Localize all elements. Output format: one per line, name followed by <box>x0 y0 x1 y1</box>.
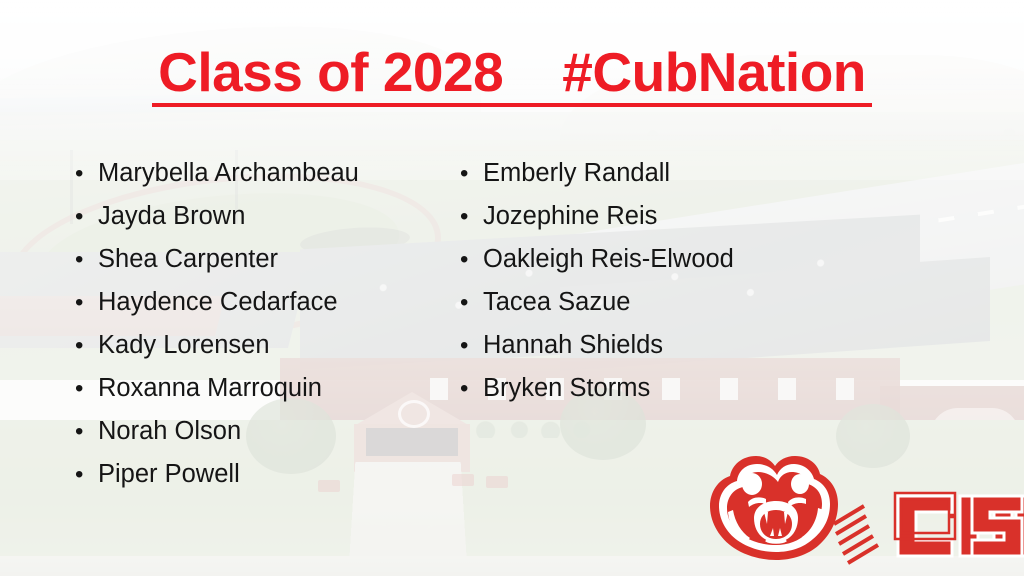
list-item: Kady Lorensen <box>68 324 453 367</box>
speed-lines-icon <box>834 506 878 563</box>
list-item: Marybella Archambeau <box>68 152 453 195</box>
list-item: Oakleigh Reis-Elwood <box>453 238 873 281</box>
title-area: Class of 2028 #CubNation <box>0 44 1024 107</box>
list-item: Bryken Storms <box>453 367 873 410</box>
presentation-slide: Class of 2028 #CubNation Marybella Archa… <box>0 0 1024 576</box>
cubs-wordmark <box>895 493 1024 556</box>
slide-content: Class of 2028 #CubNation Marybella Archa… <box>0 0 1024 576</box>
list-item: Emberly Randall <box>453 152 873 195</box>
left-name-list: Marybella Archambeau Jayda Brown Shea Ca… <box>68 152 453 496</box>
list-item: Haydence Cedarface <box>68 281 453 324</box>
left-column: Marybella Archambeau Jayda Brown Shea Ca… <box>68 152 453 496</box>
list-item: Roxanna Marroquin <box>68 367 453 410</box>
slide-title: Class of 2028 #CubNation <box>152 44 872 107</box>
right-name-list: Emberly Randall Jozephine Reis Oakleigh … <box>453 152 873 410</box>
bear-head-icon <box>710 456 838 560</box>
list-item: Jozephine Reis <box>453 195 873 238</box>
list-item: Jayda Brown <box>68 195 453 238</box>
list-item: Hannah Shields <box>453 324 873 367</box>
cubs-logo <box>688 444 1024 576</box>
list-item: Tacea Sazue <box>453 281 873 324</box>
list-item: Piper Powell <box>68 453 453 496</box>
list-item: Norah Olson <box>68 410 453 453</box>
list-item: Shea Carpenter <box>68 238 453 281</box>
